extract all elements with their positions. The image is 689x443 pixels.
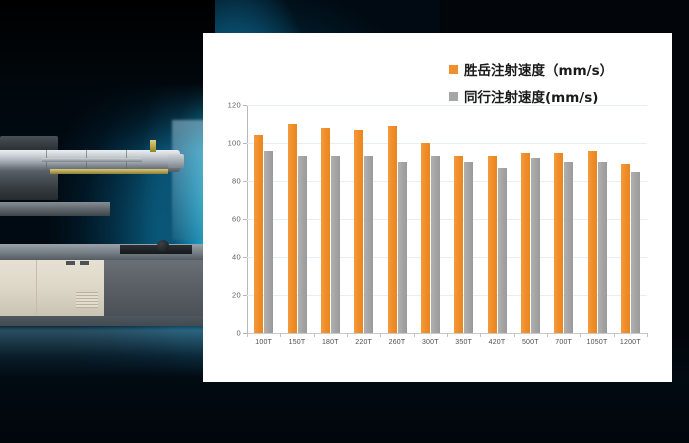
bar-series-1	[321, 128, 330, 333]
machine-linear-rail	[0, 202, 110, 216]
y-axis-tick-label: 60	[232, 215, 241, 224]
bars-layer	[247, 105, 647, 333]
y-axis-tick-label: 100	[228, 139, 241, 148]
bar-series-2	[498, 168, 507, 333]
legend-label-series-2: 同行注射速度(mm/s)	[464, 86, 598, 106]
machine-brass-rod	[50, 169, 168, 174]
x-axis-tick-label: 1050T	[587, 339, 608, 346]
bar-group	[554, 105, 573, 333]
bar-series-2	[298, 156, 307, 333]
x-axis-tick-label: 220T	[355, 339, 372, 346]
bar-group	[454, 105, 473, 333]
y-axis-tick-label: 120	[228, 101, 241, 110]
machine-nozzle-bolt	[150, 140, 156, 152]
bar-series-1	[254, 135, 263, 333]
bar-group	[521, 105, 540, 333]
bar-group	[288, 105, 307, 333]
machine-drive-housing	[0, 172, 58, 200]
x-axis-tick	[447, 333, 448, 337]
injection-molding-machine-photo	[0, 128, 209, 378]
bar-series-2	[398, 162, 407, 333]
bar-series-2	[564, 162, 573, 333]
x-axis-tick	[647, 333, 648, 337]
bar-series-2	[364, 156, 373, 333]
y-axis-tick-label: 0	[237, 329, 241, 338]
bar-series-2	[431, 156, 440, 333]
bar-series-2	[264, 151, 273, 333]
bar-group	[621, 105, 640, 333]
legend-item-series-2: 同行注射速度(mm/s)	[449, 86, 664, 106]
x-axis-tick	[247, 333, 248, 337]
bar-series-1	[388, 126, 397, 333]
x-axis-tick	[547, 333, 548, 337]
x-axis-tick	[280, 333, 281, 337]
bar-series-1	[588, 151, 597, 333]
machine-indicator-light	[66, 261, 75, 265]
x-axis-tick	[347, 333, 348, 337]
legend-swatch-gray-icon	[449, 92, 458, 101]
bar-series-1	[621, 164, 630, 333]
y-axis-tick-label: 40	[232, 253, 241, 262]
x-axis-tick	[414, 333, 415, 337]
legend-item-series-1: 胜岳注射速度（mm/s）	[449, 59, 664, 79]
x-axis-tick-label: 350T	[455, 339, 472, 346]
bar-group	[488, 105, 507, 333]
bar-series-1	[421, 143, 430, 333]
x-axis-tick-label: 300T	[422, 339, 439, 346]
x-axis-tick	[380, 333, 381, 337]
bar-group	[354, 105, 373, 333]
legend-label-series-1: 胜岳注射速度（mm/s）	[464, 59, 613, 79]
legend-swatch-orange-icon	[449, 65, 458, 74]
machine-vent-grille	[76, 292, 98, 308]
bar-group	[254, 105, 273, 333]
bar-series-2	[531, 158, 540, 333]
bar-group	[588, 105, 607, 333]
bar-group	[421, 105, 440, 333]
x-axis-tick-label: 100T	[255, 339, 272, 346]
bar-series-1	[521, 153, 530, 334]
bar-group	[321, 105, 340, 333]
x-axis-tick-label: 700T	[555, 339, 572, 346]
bar-series-2	[331, 156, 340, 333]
machine-round-knob	[157, 240, 169, 252]
x-axis-tick-label: 180T	[322, 339, 339, 346]
x-axis-tick	[614, 333, 615, 337]
machine-indicator-light	[80, 261, 89, 265]
bar-series-2	[464, 162, 473, 333]
bar-chart-plot-area: 020406080100120 100T150T180T220T260T300T…	[247, 105, 647, 333]
bar-series-2	[598, 162, 607, 333]
x-axis-tick	[580, 333, 581, 337]
x-axis-tick	[514, 333, 515, 337]
x-axis-tick-label: 260T	[389, 339, 406, 346]
bar-series-1	[354, 130, 363, 333]
chart-panel: 胜岳注射速度（mm/s） 同行注射速度(mm/s) 02040608010012…	[203, 33, 672, 382]
machine-tie-bar	[42, 158, 142, 162]
x-axis-tick-label: 500T	[522, 339, 539, 346]
y-axis-tick-label: 20	[232, 291, 241, 300]
machine-top-plate	[120, 245, 192, 254]
bar-group	[388, 105, 407, 333]
bar-series-1	[288, 124, 297, 333]
x-axis-tick	[314, 333, 315, 337]
x-axis-tick-label: 420T	[489, 339, 506, 346]
x-axis-tick-label: 1200T	[620, 339, 641, 346]
machine-floor-reflection	[0, 328, 207, 380]
machine-safety-guard	[104, 254, 207, 316]
x-axis-tick-label: 150T	[289, 339, 306, 346]
bar-series-1	[488, 156, 497, 333]
x-axis-tick	[480, 333, 481, 337]
y-axis-tick-label: 80	[232, 177, 241, 186]
bar-series-1	[554, 153, 563, 334]
bar-series-2	[631, 172, 640, 334]
bar-series-1	[454, 156, 463, 333]
